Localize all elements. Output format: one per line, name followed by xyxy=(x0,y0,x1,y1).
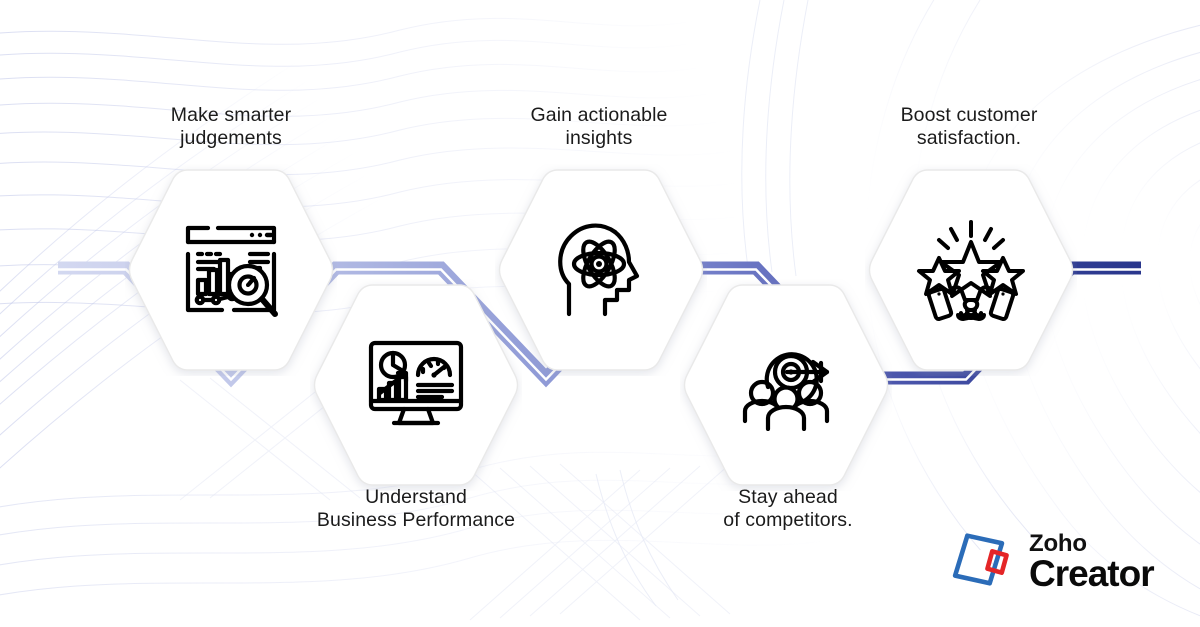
hex-node-gain-actionable-insights[interactable] xyxy=(495,164,707,376)
node-label-1: Make smarter judgements xyxy=(96,104,366,150)
hex-node-stay-ahead-of-competitors[interactable] xyxy=(680,279,892,491)
node-label-2: Understand Business Performance xyxy=(281,486,551,532)
hex-node-understand-business-performance[interactable] xyxy=(310,279,522,491)
icon-monitor-dashboard xyxy=(310,279,522,491)
infographic-canvas: Make smarter judgements xyxy=(0,0,1200,627)
logo-product-name: Creator xyxy=(1029,555,1154,592)
icon-head-atom-brain xyxy=(495,164,707,376)
zoho-creator-logo-mark xyxy=(947,531,1021,593)
zoho-creator-logo[interactable]: Zoho Creator xyxy=(947,527,1179,597)
hex-node-boost-customer-satisfaction[interactable] xyxy=(865,164,1077,376)
icon-target-team xyxy=(680,279,892,491)
icon-stars-thumbsup xyxy=(865,164,1077,376)
icon-dashboard-analytics-search xyxy=(125,164,337,376)
hex-node-make-smarter-judgements[interactable] xyxy=(125,164,337,376)
node-label-4: Stay ahead of competitors. xyxy=(653,486,923,532)
node-label-5: Boost customer satisfaction. xyxy=(834,104,1104,150)
logo-text-block: Zoho Creator xyxy=(1029,532,1154,592)
node-label-3: Gain actionable insights xyxy=(464,104,734,150)
